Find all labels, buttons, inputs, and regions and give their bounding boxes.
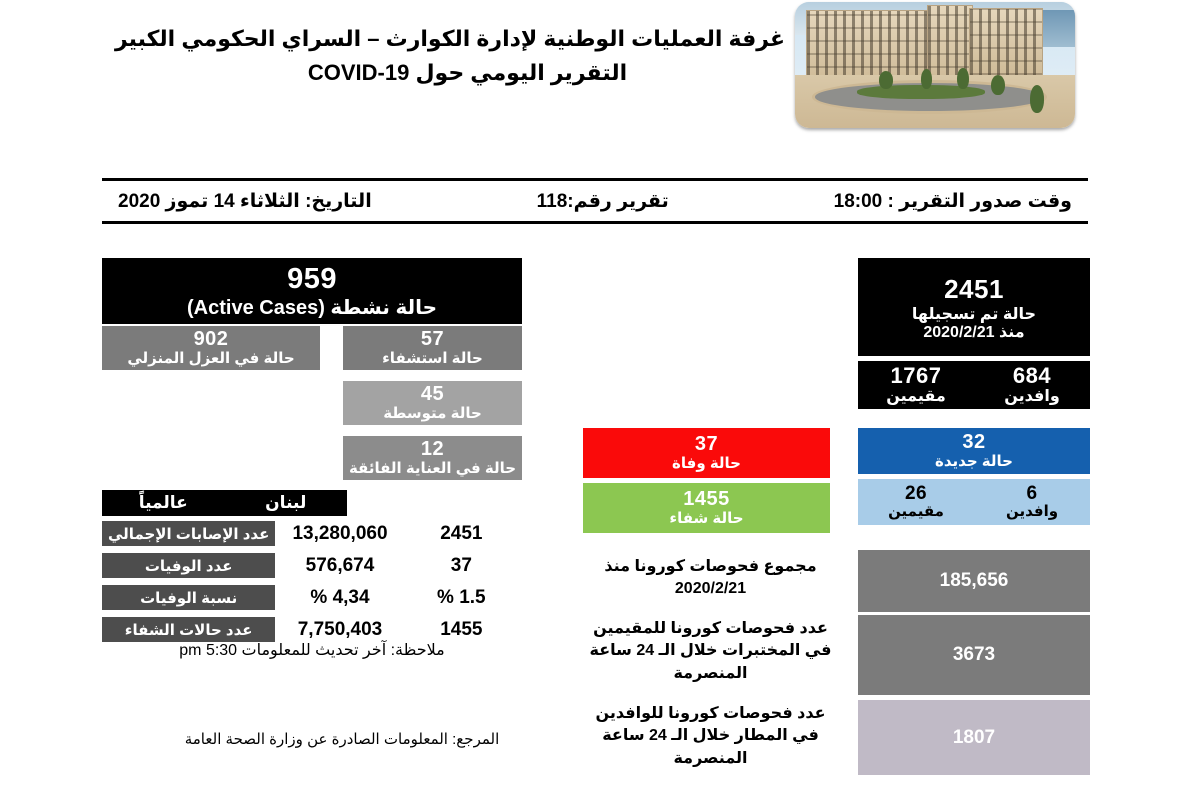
photo-tree xyxy=(957,68,968,89)
icu-cases-value: 12 xyxy=(421,438,444,460)
title-line-2: التقرير اليومي حول COVID-19 xyxy=(150,56,785,90)
active-cases-total-label: حالة نشطة (Active Cases) xyxy=(187,297,437,319)
recovered-box: 1455 حالة شفاء xyxy=(583,483,830,533)
registered-residents-value: 1767 xyxy=(891,364,942,389)
source-note: المرجع: المعلومات الصادرة عن وزارة الصحة… xyxy=(102,730,582,748)
moderate-cases-value: 45 xyxy=(421,383,444,405)
table-row: 1.5 % 4,34 % نسبة الوفيات xyxy=(102,584,522,611)
new-cases-residents-label: مقيمين xyxy=(888,504,944,521)
photo-tree xyxy=(1030,85,1044,113)
report-issue-time: وقت صدور التقرير : 18:00 xyxy=(834,190,1072,213)
new-cases-residents: 26 مقيمين xyxy=(858,483,974,521)
registered-residents-label: مقيمين xyxy=(886,388,946,406)
tests-arrivals-value: 1807 xyxy=(858,700,1090,775)
active-cases-total-box: 959 حالة نشطة (Active Cases) xyxy=(102,258,522,324)
photo-building-left xyxy=(806,10,931,83)
home-isolation-box: 902 حالة في العزل المنزلي xyxy=(102,326,320,370)
photo-tree xyxy=(991,75,1005,95)
deaths-label: حالة وفاة xyxy=(672,456,741,473)
registered-arrivals-value: 684 xyxy=(1013,364,1051,389)
last-update-note: ملاحظة: آخر تحديث للمعلومات 5:30 pm xyxy=(102,640,522,660)
photo-tree xyxy=(879,71,893,89)
new-cases-arrivals-value: 6 xyxy=(1026,483,1037,504)
table-row-values: 2451 13,280,060 xyxy=(279,523,522,545)
comparison-table-header: لبنان عالمياً xyxy=(102,490,347,516)
row-label: نسبة الوفيات xyxy=(102,585,275,610)
cell-lebanon: 37 xyxy=(401,555,522,577)
cell-lebanon: 1455 xyxy=(401,619,522,641)
new-cases-box: 32 حالة جديدة xyxy=(858,428,1090,474)
tests-arrivals-label: عدد فحوصات كورونا للوافدين في المطار خلا… xyxy=(583,703,838,770)
photo-tree xyxy=(921,69,932,89)
registered-cases-box: 2451 حالة تم تسجيلها منذ 2020/2/21 xyxy=(858,258,1090,356)
table-row-values: 1.5 % 4,34 % xyxy=(279,587,522,609)
new-cases-breakdown-box: 6 وافدين 26 مقيمين xyxy=(858,479,1090,525)
cell-global: 576,674 xyxy=(279,555,400,577)
table-row-values: 1455 7,750,403 xyxy=(279,619,522,641)
registered-cases-since: منذ 2020/2/21 xyxy=(923,324,1024,342)
registered-cases-label: حالة تم تسجيلها xyxy=(912,306,1036,324)
moderate-cases-box: 45 حالة متوسطة xyxy=(343,381,522,425)
moderate-cases-label: حالة متوسطة xyxy=(383,406,482,423)
registered-residents: 1767 مقيمين xyxy=(858,364,974,407)
new-cases-value: 32 xyxy=(962,431,985,453)
active-cases-total-value: 959 xyxy=(287,263,337,295)
icu-cases-label: حالة في العناية الفائقة xyxy=(349,461,516,478)
new-cases-label: حالة جديدة xyxy=(935,454,1013,471)
hospitalized-box: 57 حالة استشفاء xyxy=(343,326,522,370)
recovered-value: 1455 xyxy=(683,488,730,510)
registered-arrivals-label: وافدين xyxy=(1004,388,1060,406)
icu-cases-box: 12 حالة في العناية الفائقة xyxy=(343,436,522,480)
cell-global: 7,750,403 xyxy=(279,619,400,641)
row-label: عدد الإصابات الإجمالي xyxy=(102,521,275,546)
report-number: تقرير رقم:118 xyxy=(537,190,669,213)
deaths-value: 37 xyxy=(695,433,718,455)
tests-total-value: 185,656 xyxy=(858,550,1090,612)
new-cases-arrivals-label: وافدين xyxy=(1006,504,1058,521)
photo-building-right xyxy=(969,8,1044,76)
grand-serail-building-photo xyxy=(795,2,1075,128)
cell-lebanon: 2451 xyxy=(401,523,522,545)
registered-breakdown-box: 684 وافدين 1767 مقيمين xyxy=(858,361,1090,409)
table-row: 37 576,674 عدد الوفيات xyxy=(102,552,522,579)
table-row: 1455 7,750,403 عدد حالات الشفاء xyxy=(102,616,522,643)
cell-lebanon: 1.5 % xyxy=(401,587,522,609)
recovered-label: حالة شفاء xyxy=(669,511,743,528)
table-row-values: 37 576,674 xyxy=(279,555,522,577)
title-line-1: غرفة العمليات الوطنية لإدارة الكوارث – ا… xyxy=(150,22,785,56)
tests-total-label: مجموع فحوصات كورونا منذ 2020/2/21 xyxy=(583,556,838,601)
row-label: عدد حالات الشفاء xyxy=(102,617,275,642)
photo-building-windows xyxy=(807,11,930,82)
hospitalized-label: حالة استشفاء xyxy=(382,351,483,368)
column-header-global: عالمياً xyxy=(102,493,225,513)
hospitalized-value: 57 xyxy=(421,328,444,350)
page-title: غرفة العمليات الوطنية لإدارة الكوارث – ا… xyxy=(150,22,785,90)
report-date: التاريخ: الثلاثاء 14 تموز 2020 xyxy=(118,190,372,213)
registered-arrivals: 684 وافدين xyxy=(974,364,1090,407)
new-cases-residents-value: 26 xyxy=(905,483,927,504)
row-label: عدد الوفيات xyxy=(102,553,275,578)
report-meta-bar: وقت صدور التقرير : 18:00 تقرير رقم:118 ا… xyxy=(102,178,1088,224)
table-row: 2451 13,280,060 عدد الإصابات الإجمالي xyxy=(102,520,522,547)
cell-global: 4,34 % xyxy=(279,587,400,609)
photo-building-windows xyxy=(970,9,1043,75)
cell-global: 13,280,060 xyxy=(279,523,400,545)
home-isolation-value: 902 xyxy=(194,328,229,350)
tests-residents-value: 3673 xyxy=(858,615,1090,695)
new-cases-arrivals: 6 وافدين xyxy=(974,483,1090,521)
registered-cases-value: 2451 xyxy=(944,275,1004,304)
column-header-lebanon: لبنان xyxy=(225,493,348,513)
deaths-box: 37 حالة وفاة xyxy=(583,428,830,478)
tests-residents-label: عدد فحوصات كورونا للمقيمين في المختبرات … xyxy=(583,618,838,685)
home-isolation-label: حالة في العزل المنزلي xyxy=(127,351,294,368)
